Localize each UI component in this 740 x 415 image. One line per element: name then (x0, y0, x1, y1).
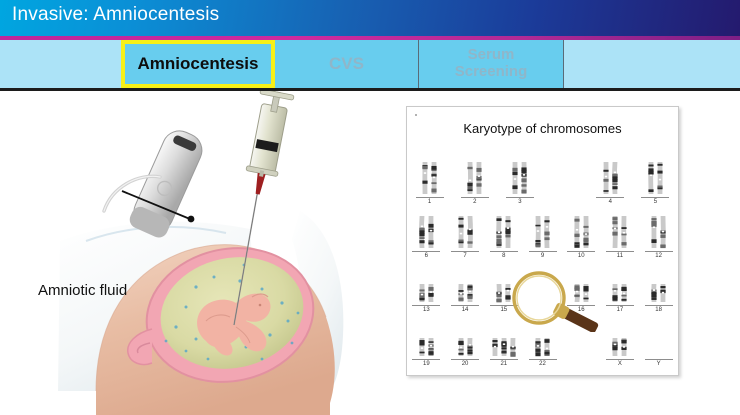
chromosome-pair: 17 (605, 259, 635, 313)
chromosome-group (511, 159, 528, 195)
chromosome-underline (416, 197, 444, 198)
panel-corner-dot (415, 114, 417, 116)
tab-bar: Amniocentesis CVS Serum Screening (0, 40, 740, 88)
chromosome-underline (529, 359, 557, 360)
chromosome-group (466, 159, 483, 195)
chromosome-group (457, 213, 474, 249)
chromosome-group (495, 267, 512, 303)
karyotype-grid: 12345678910111213141516171819202122XY (407, 151, 678, 367)
tab-cvs-label: CVS (329, 54, 364, 73)
tab-serum-label-line2: Screening (455, 64, 528, 81)
tab-serum-label-line1: Serum (455, 47, 528, 64)
chromosome-pair: 11 (605, 205, 635, 259)
chromosome-pair: 10 (566, 205, 596, 259)
chromosome-group (418, 267, 435, 303)
chromosome-group (457, 267, 474, 303)
page-title: Invasive: Amniocentesis (12, 4, 219, 26)
chromosome-label: 22 (539, 361, 546, 367)
slide-header: Invasive: Amniocentesis (0, 0, 740, 36)
chromosome-pair: 15 (489, 259, 519, 313)
karyotype-row: 19202122XY (407, 313, 678, 367)
chromosome-pair: 12 (644, 205, 674, 259)
chromosome-label: Y (657, 361, 661, 367)
chromosome-underline (461, 197, 489, 198)
chromosome-pair: 14 (450, 259, 480, 313)
chromosome-pair: 9 (528, 205, 558, 259)
tab-amniocentesis-label: Amniocentesis (138, 54, 259, 73)
karyotype-row: 12345 (407, 151, 678, 205)
slide-body: Amniotic fluid Karyotype of chromosomes … (0, 91, 740, 415)
annotation-dot (188, 216, 195, 223)
karyotype-row: 6789101112 (407, 205, 678, 259)
chromosome-label: 19 (423, 361, 430, 367)
karyotype-title: Karyotype of chromosomes (407, 121, 678, 136)
chromosome-underline (490, 251, 518, 252)
tab-spacer-right (564, 40, 740, 88)
chromosome-underline (451, 251, 479, 252)
chromosome-underline (506, 197, 534, 198)
chromosome-pair: 5 (640, 151, 670, 205)
chromosome-group (573, 213, 590, 249)
chromosome-pair: 4 (595, 151, 625, 205)
chromosome-pair: 21 (489, 313, 519, 367)
chromosome-underline (645, 305, 673, 306)
chromosome-pair: 7 (450, 205, 480, 259)
chromosome-pair: X (605, 313, 635, 367)
slide-root: Invasive: Amniocentesis Amniocentesis CV… (0, 0, 740, 415)
chromosome-label: 21 (500, 361, 507, 367)
chromosome-underline (606, 251, 634, 252)
chromosome-pair: 16 (566, 259, 596, 313)
chromosome-group (421, 159, 438, 195)
chromosome-group (418, 321, 435, 357)
chromosome-underline (412, 305, 440, 306)
chromosome-underline (567, 251, 595, 252)
tab-serum-screening[interactable]: Serum Screening (419, 40, 564, 88)
chromosome-underline (606, 305, 634, 306)
chromosome-group (650, 267, 667, 303)
chromosome-group (491, 321, 517, 357)
tab-amniocentesis[interactable]: Amniocentesis (121, 40, 275, 88)
chromosome-underline (645, 359, 673, 360)
chromosome-group (602, 159, 619, 195)
amniocentesis-illustration (0, 91, 400, 415)
chromosome-pair: 13 (411, 259, 441, 313)
chromosome-group (495, 213, 512, 249)
chromosome-group (611, 321, 628, 357)
chromosome-pair: 22 (528, 313, 558, 367)
chromosome-underline (412, 359, 440, 360)
chromosome-pair: 18 (644, 259, 674, 313)
chromosome-pair: 8 (489, 205, 519, 259)
chromosome-pair: 2 (460, 151, 490, 205)
chromosome-underline (490, 305, 518, 306)
chromosome-pair: 6 (411, 205, 441, 259)
chromosome-label: 20 (462, 361, 469, 367)
chromosome-pair: 19 (411, 313, 441, 367)
chromosome-group (534, 321, 551, 357)
chromosome-group (650, 213, 667, 249)
chromosome-underline (451, 305, 479, 306)
chromosome-pair: Y (644, 313, 674, 367)
chromosome-group (611, 267, 628, 303)
chromosome-pair: 3 (505, 151, 535, 205)
chromosome-group (573, 267, 590, 303)
chromosome-underline (645, 251, 673, 252)
chromosome-underline (606, 359, 634, 360)
tab-spacer-left (0, 40, 121, 88)
annotation-amniotic-fluid: Amniotic fluid (38, 282, 127, 299)
karyotype-panel: Karyotype of chromosomes 123456789101112… (406, 106, 679, 376)
chromosome-underline (451, 359, 479, 360)
chromosome-underline (596, 197, 624, 198)
karyotype-row: 131415161718 (407, 259, 678, 313)
chromosome-group (457, 321, 474, 357)
tab-cvs[interactable]: CVS (275, 40, 419, 88)
chromosome-group (418, 213, 435, 249)
syringe (241, 91, 294, 197)
chromosome-pair: 20 (450, 313, 480, 367)
chromosome-underline (412, 251, 440, 252)
chromosome-group (611, 213, 628, 249)
chromosome-group (534, 213, 551, 249)
chromosome-label: X (618, 361, 622, 367)
chromosome-underline (529, 251, 557, 252)
chromosome-pair: 1 (415, 151, 445, 205)
chromosome-underline (641, 197, 669, 198)
chromosome-underline (567, 305, 595, 306)
chromosome-underline (490, 359, 518, 360)
chromosome-group (647, 159, 664, 195)
